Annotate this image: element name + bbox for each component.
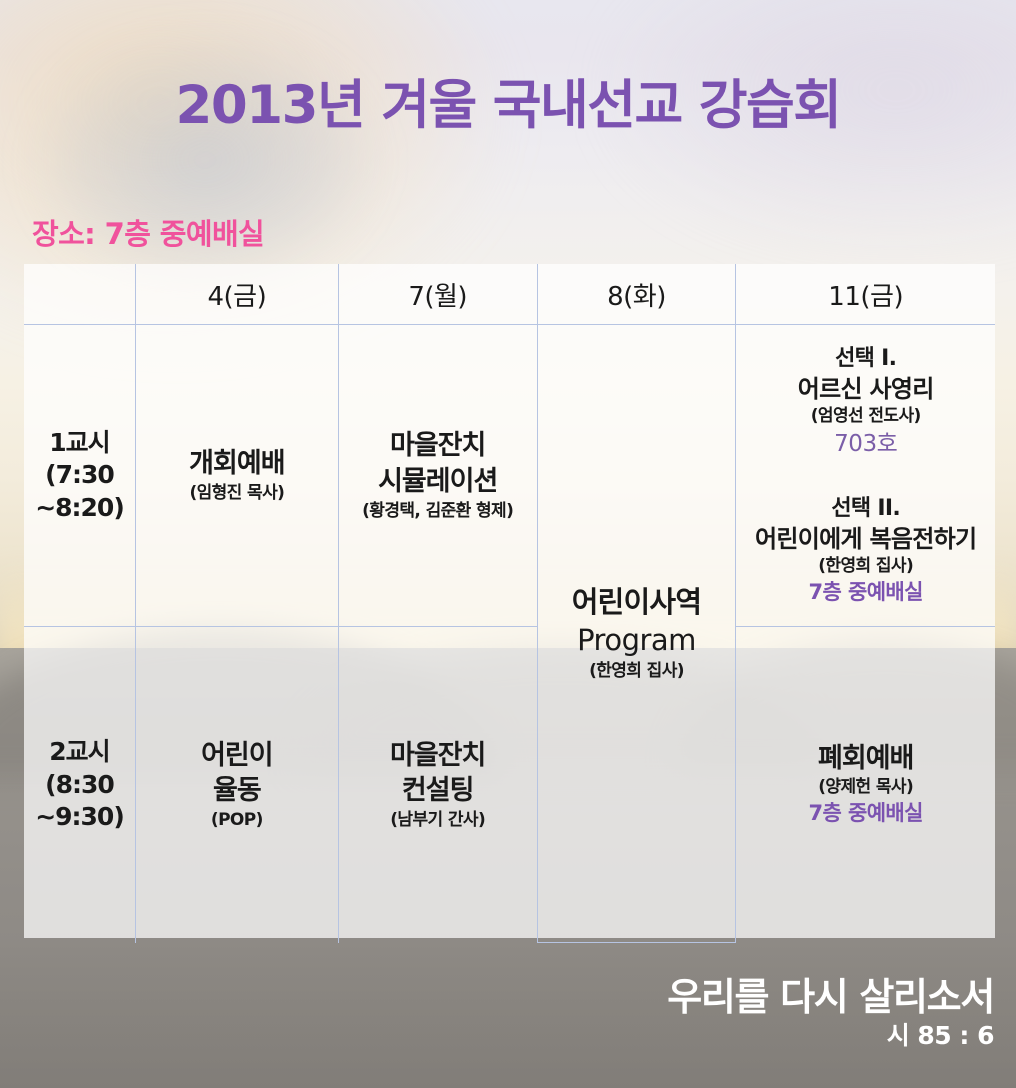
cell-day2-period1-speaker: (황경택, 김준환 형제) <box>343 500 533 523</box>
cell-day2-period2-title-line1: 마을잔치 <box>343 738 533 774</box>
cell-day4-period2-room: 7층 중예배실 <box>740 799 991 828</box>
option-1-block: 선택 I. 어르신 사영리 (엄영선 전도사) 703호 <box>740 344 991 460</box>
poster-canvas: 2013년 겨울 국내선교 강습회 장소: 7층 중예배실 4(금) 7(월) … <box>0 0 1016 1088</box>
cell-day2-period2-speaker: (남부기 간사) <box>343 809 533 832</box>
period-1-end: ~8:20) <box>28 492 131 525</box>
schedule-table-container: 4(금) 7(월) 8(화) 11(금) 1교시 (7:30 ~8:20) 개회… <box>24 264 995 938</box>
option-2-title: 어린이에게 복음전하기 <box>740 524 991 555</box>
cell-day2-period2-title-line2: 컨설팅 <box>343 773 533 809</box>
table-row-period-2: 2교시 (8:30 ~9:30) 어린이 율동 (POP) 마을잔치 컨설팅 (… <box>24 627 995 943</box>
period-2-time-cell: 2교시 (8:30 ~9:30) <box>24 627 135 943</box>
period-1-start: (7:30 <box>28 459 131 492</box>
cell-day1-period2-speaker: (POP) <box>140 809 334 832</box>
period-1-time-cell: 1교시 (7:30 ~8:20) <box>24 325 135 627</box>
cell-day1-period1: 개회예배 (임형진 목사) <box>135 325 338 627</box>
option-1-label: 선택 I. <box>740 344 991 374</box>
cell-day2-period2: 마을잔치 컨설팅 (남부기 간사) <box>338 627 537 943</box>
cell-day3-merged: 어린이사역 Program (한영희 집사) <box>537 325 736 943</box>
table-row-period-1: 1교시 (7:30 ~8:20) 개회예배 (임형진 목사) 마을잔치 시뮬레이… <box>24 325 995 627</box>
header-day-4: 11(금) <box>736 264 995 325</box>
cell-day4-period2-title: 폐회예배 <box>740 741 991 777</box>
page-title: 2013년 겨울 국내선교 강습회 <box>0 78 1016 134</box>
verse-text: 우리를 다시 살리소서 <box>667 976 994 1019</box>
cell-day3-speaker: (한영희 집사) <box>542 660 732 683</box>
option-1-speaker: (엄영선 전도사) <box>740 405 991 428</box>
period-2-start: (8:30 <box>28 769 131 802</box>
option-2-speaker: (한영희 집사) <box>740 555 991 578</box>
option-1-title: 어르신 사영리 <box>740 374 991 405</box>
option-2-room: 7층 중예배실 <box>740 578 991 607</box>
header-day-1: 4(금) <box>135 264 338 325</box>
cell-day1-period1-speaker: (임형진 목사) <box>140 482 334 505</box>
header-corner-cell <box>24 264 135 325</box>
option-separator <box>740 460 991 494</box>
cell-day1-period1-title: 개회예배 <box>140 446 334 482</box>
header-day-2: 7(월) <box>338 264 537 325</box>
period-1-label: 1교시 <box>28 427 131 460</box>
header-day-3: 8(화) <box>537 264 736 325</box>
cell-day2-period1-title-line2: 시뮬레이션 <box>343 464 533 500</box>
cell-day1-period2-title-line2: 율동 <box>140 773 334 809</box>
period-2-label: 2교시 <box>28 736 131 769</box>
cell-day3-title-english: Program <box>542 622 732 660</box>
schedule-table: 4(금) 7(월) 8(화) 11(금) 1교시 (7:30 ~8:20) 개회… <box>24 264 995 943</box>
period-2-end: ~9:30) <box>28 801 131 834</box>
option-2-label: 선택 II. <box>740 494 991 524</box>
cell-day4-period2-speaker: (양제헌 목사) <box>740 776 991 799</box>
option-1-room: 703호 <box>740 428 991 460</box>
cell-day3-title-korean: 어린이사역 <box>542 584 732 622</box>
cell-day1-period2: 어린이 율동 (POP) <box>135 627 338 943</box>
option-2-block: 선택 II. 어린이에게 복음전하기 (한영희 집사) 7층 중예배실 <box>740 494 991 607</box>
cell-day2-period1-title-line1: 마을잔치 <box>343 428 533 464</box>
cell-day4-period1: 선택 I. 어르신 사영리 (엄영선 전도사) 703호 선택 II. 어린이에… <box>736 325 995 627</box>
venue-label: 장소: 7층 중예배실 <box>32 211 264 253</box>
cell-day4-period2: 폐회예배 (양제헌 목사) 7층 중예배실 <box>736 627 995 943</box>
table-header-row: 4(금) 7(월) 8(화) 11(금) <box>24 264 995 325</box>
cell-day1-period2-title-line1: 어린이 <box>140 738 334 774</box>
footer-verse: 우리를 다시 살리소서 시 85 : 6 <box>667 976 994 1051</box>
cell-day2-period1: 마을잔치 시뮬레이션 (황경택, 김준환 형제) <box>338 325 537 627</box>
verse-reference: 시 85 : 6 <box>667 1021 994 1051</box>
